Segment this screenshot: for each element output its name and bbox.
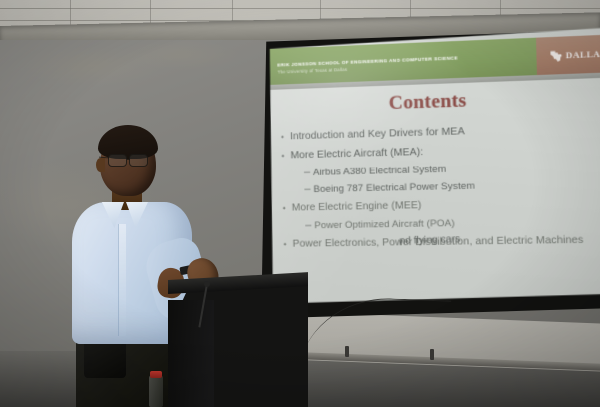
bullet-dash-icon: – [305,220,314,231]
bullet-text: Introduction and Key Drivers for MEA [290,126,465,144]
bullet-dot-icon: • [283,238,292,249]
bullet-dash-icon: – [304,167,313,178]
bottle-cap [150,371,162,378]
bullet-text: Power Optimized Aircraft (POA) [314,218,455,232]
list-item: – Boeing 787 Electrical Power System [282,178,600,197]
bullet-text: More Electric Aircraft (MEA): [290,147,423,163]
slide-title: Contents [266,85,596,119]
bullet-text-occluded: nd flying cars [399,234,460,247]
eyeglasses-bridge [127,159,130,160]
list-item: • More Electric Aircraft (MEA): [281,140,600,162]
bullet-dot-icon: • [281,149,290,160]
list-item: • Introduction and Key Drivers for MEA [281,121,600,144]
bullet-text: Airbus A380 Electrical System [313,164,446,179]
list-item: – Power Optimized Aircraft (POA) [283,215,600,232]
bullet-dash-icon: – [304,184,313,195]
bullet-dot-icon: • [281,130,290,141]
shirt-placket [118,224,126,336]
water-bottle [149,375,163,407]
list-item: • More Electric Engine (MEE) [283,196,600,216]
presentation-slide: ERIK JONSSON SCHOOL OF ENGINEERING AND C… [265,26,600,309]
belt-pouch [84,338,126,378]
eyeglasses-icon [108,154,127,167]
ear [96,158,105,172]
logo-wordmark: DALLAS [566,48,600,60]
texas-state-outline-icon [549,49,563,63]
lectern-side [168,300,214,407]
eyeglasses-icon [129,154,148,167]
bullet-dot-icon: • [283,202,292,213]
hair [98,125,158,159]
list-item: – Airbus A380 Electrical System [282,160,600,180]
lecture-hall-photo: ERIK JONSSON SCHOOL OF ENGINEERING AND C… [0,0,600,407]
bullet-text: Boeing 787 Electrical Power System [313,181,475,196]
bullet-text: More Electric Engine (MEE) [292,200,422,215]
microphone-icon [204,281,210,287]
ut-dallas-logo: DALLAS [536,34,600,75]
